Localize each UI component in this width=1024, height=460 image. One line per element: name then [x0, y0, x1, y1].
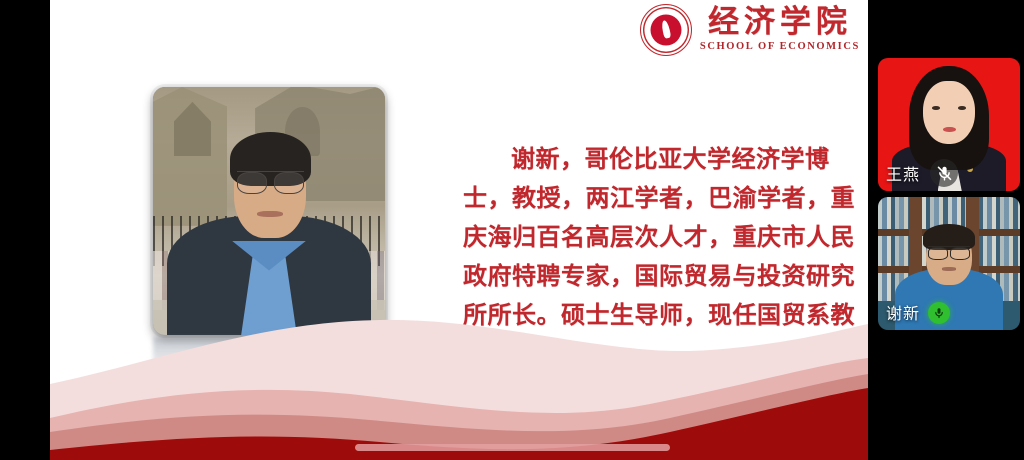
- logo-text-group: 经济学院 SCHOOL OF ECONOMICS: [700, 7, 860, 53]
- school-logo: 经济学院 SCHOOL OF ECONOMICS: [640, 4, 860, 56]
- speaker-portrait-photo: [153, 87, 385, 335]
- school-of-economics-emblem: [640, 4, 692, 56]
- portrait-frame: [153, 87, 385, 335]
- logo-english-name: SCHOOL OF ECONOMICS: [700, 42, 860, 53]
- participant-tile-strip: 王燕 谢新: [878, 58, 1020, 330]
- home-indicator-bar[interactable]: [355, 444, 670, 451]
- participant-name-0: 王燕: [886, 161, 920, 185]
- wave-decoration: [50, 314, 868, 460]
- logo-chinese-name: 经济学院: [708, 7, 852, 38]
- participant-tile-0[interactable]: 王燕: [878, 58, 1020, 191]
- cathedral-background: [153, 87, 385, 335]
- microphone-active-icon[interactable]: [928, 302, 950, 324]
- video-conference-screen: 经济学院 SCHOOL OF ECONOMICS 谢新，哥伦比亚大学经济学博士，…: [0, 0, 1024, 460]
- participant-tile-1[interactable]: 谢新: [878, 197, 1020, 330]
- microphone-muted-icon[interactable]: [930, 159, 958, 187]
- shared-slide[interactable]: 经济学院 SCHOOL OF ECONOMICS 谢新，哥伦比亚大学经济学博士，…: [50, 0, 868, 460]
- participant-name-1: 谢新: [886, 300, 920, 324]
